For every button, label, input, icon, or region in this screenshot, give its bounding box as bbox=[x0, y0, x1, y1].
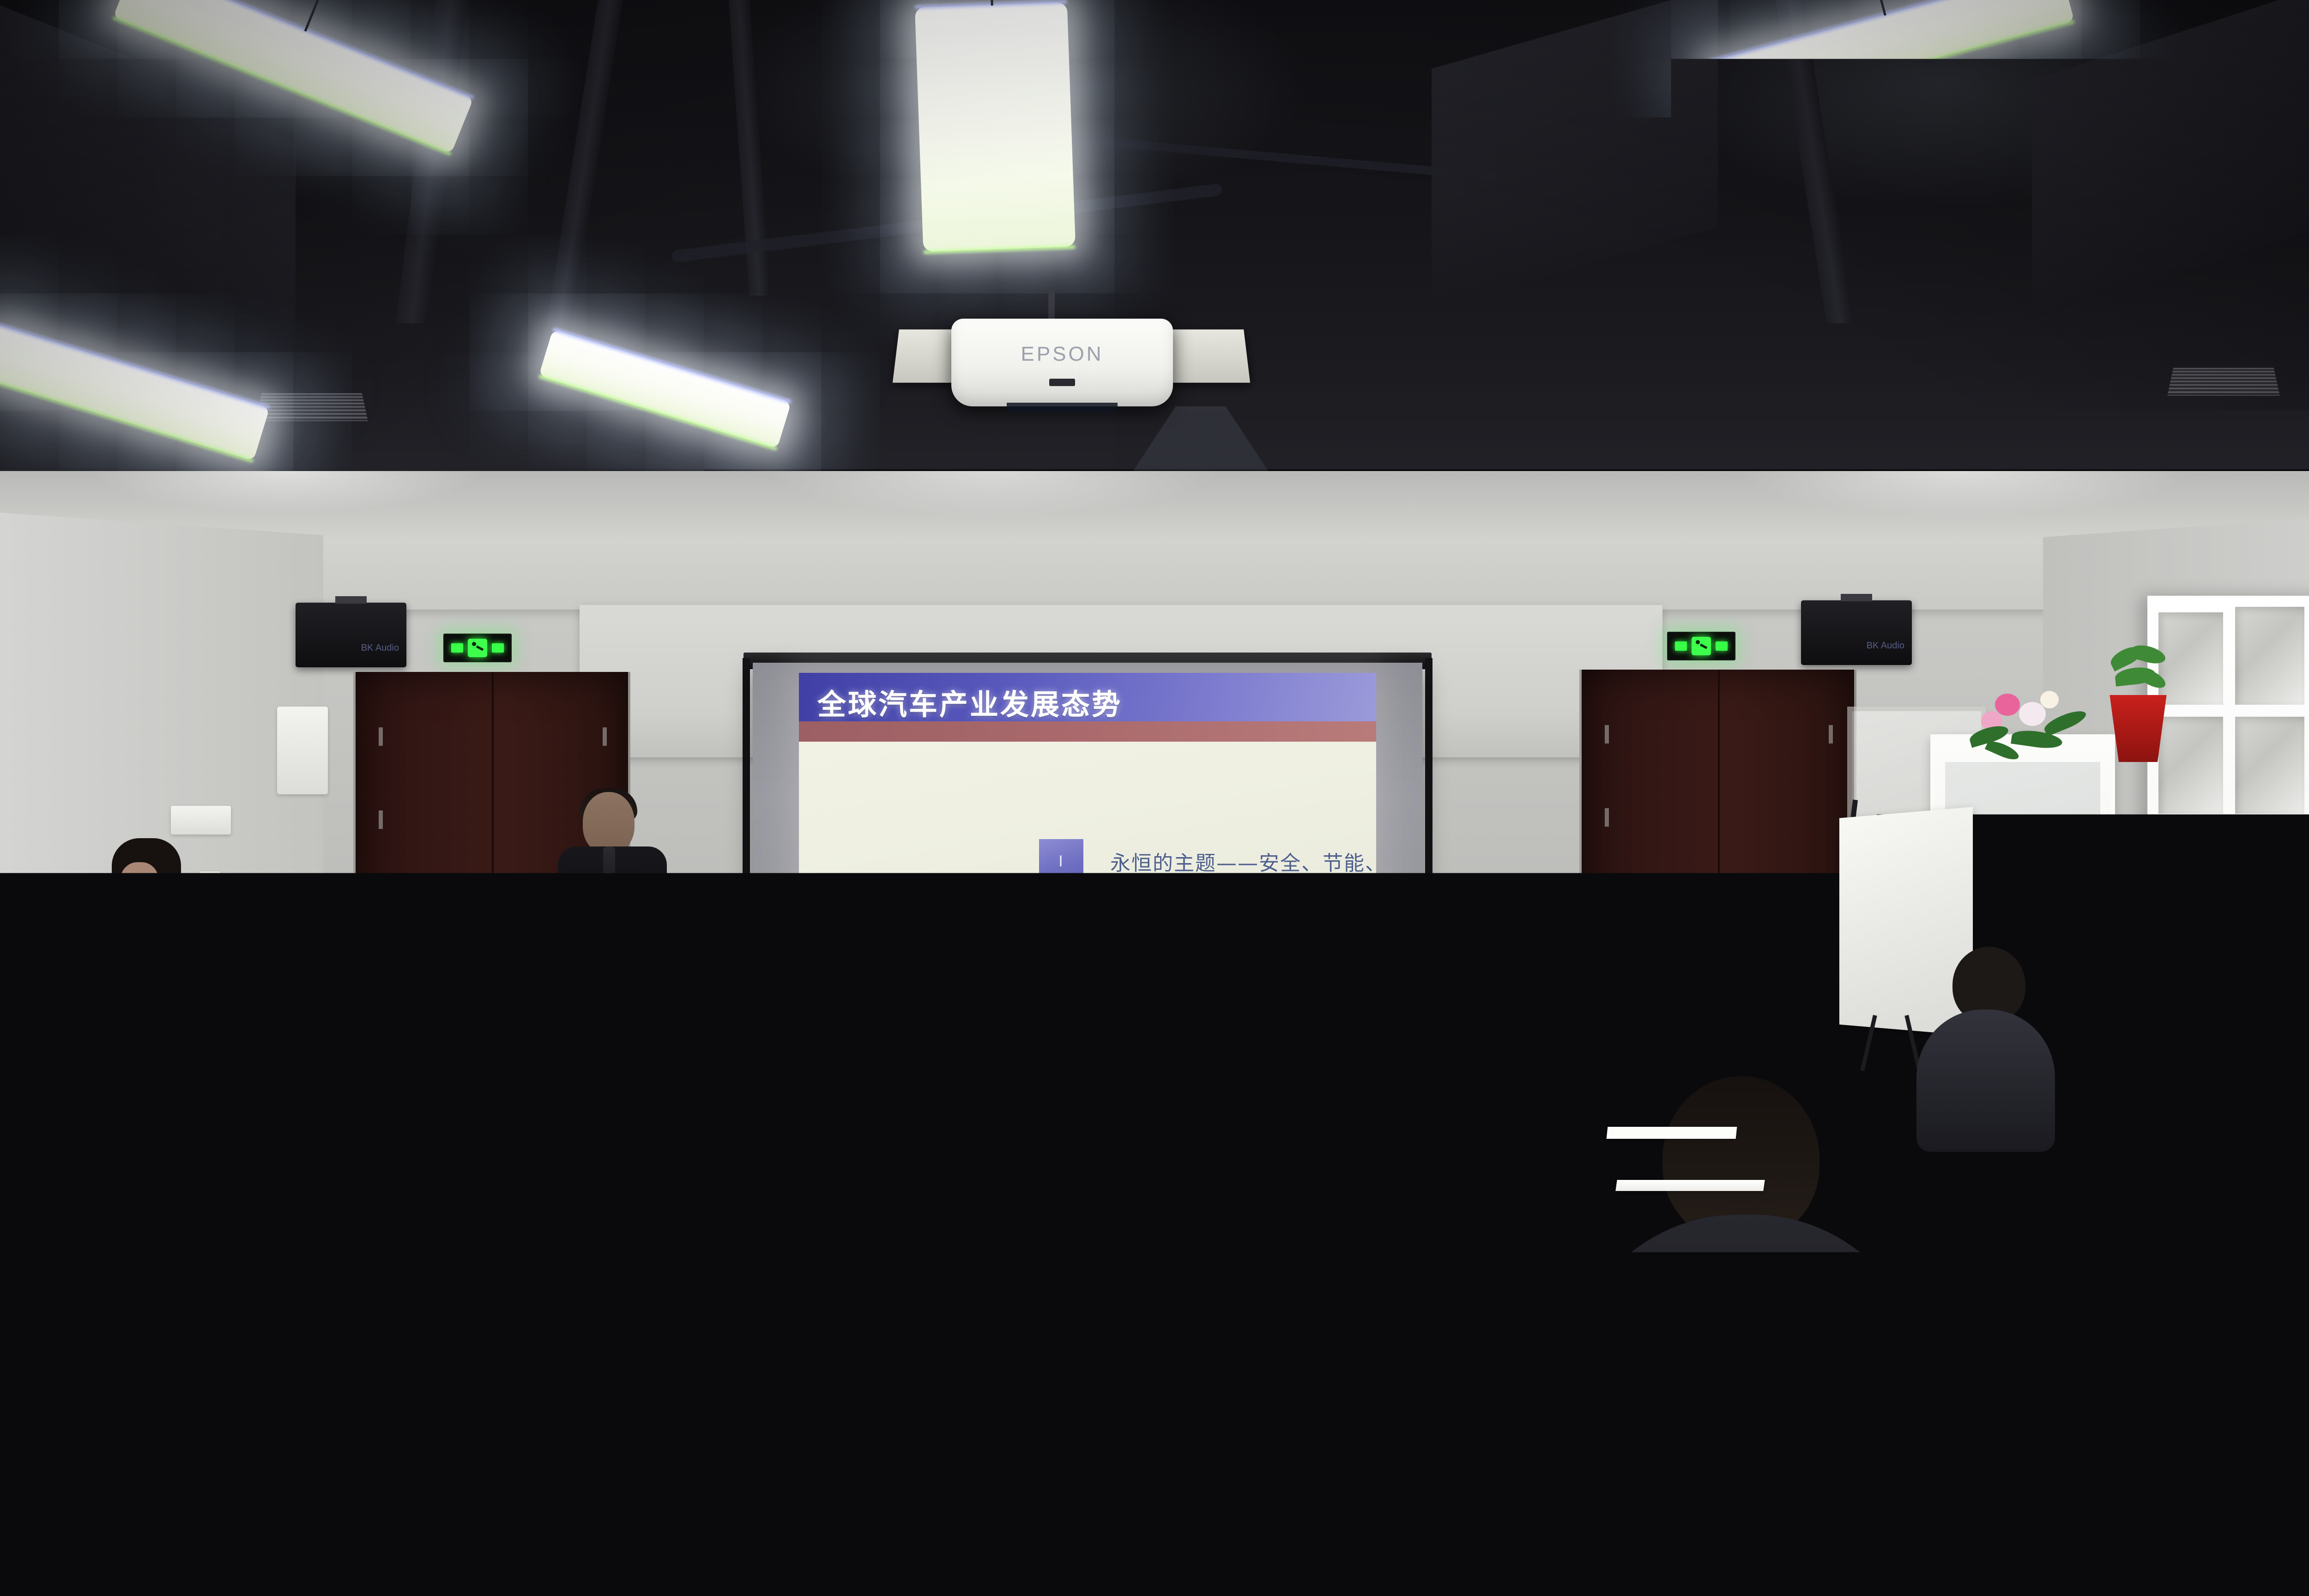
podium-school-name: 景格学校 bbox=[611, 935, 697, 994]
door-split-line bbox=[1718, 670, 1720, 1034]
paper-sheet bbox=[599, 1200, 717, 1210]
bullet-number-box: I bbox=[1039, 839, 1083, 883]
exit-arrow-icon bbox=[1716, 641, 1728, 651]
bullet-number-box: II bbox=[1039, 894, 1083, 938]
thermos-flask bbox=[2175, 1224, 2213, 1339]
thermos-flask bbox=[1210, 1007, 1239, 1099]
exit-arrow-icon bbox=[1675, 641, 1687, 651]
door-handle[interactable] bbox=[1729, 908, 1737, 943]
cabinet-handle[interactable] bbox=[2019, 877, 2023, 919]
presenter-hand bbox=[593, 879, 620, 905]
presenter-head bbox=[583, 792, 635, 854]
instant-noodle-cup bbox=[2129, 1312, 2166, 1354]
screen-edge bbox=[1425, 658, 1433, 1055]
door-plate bbox=[1698, 882, 1727, 899]
wall-junction-box bbox=[171, 806, 231, 834]
slide-footer-line: Automotive bbox=[1310, 978, 1364, 990]
door-handle[interactable] bbox=[484, 910, 491, 945]
wall-speaker-right: BK Audio bbox=[1801, 600, 1912, 665]
paper-sheet bbox=[2104, 1210, 2245, 1224]
audience-member-foreground bbox=[217, 1058, 503, 1596]
thermos-flask bbox=[688, 1247, 725, 1372]
mug-lid bbox=[532, 896, 556, 902]
thermos-flask bbox=[1210, 1118, 1245, 1228]
speaker-bracket bbox=[335, 596, 367, 604]
ceiling-light-fixture bbox=[915, 2, 1076, 252]
slide-bullet-row: II 汽车电动化——能源战略 bbox=[1039, 889, 1362, 943]
open-notebook bbox=[175, 1196, 314, 1207]
person-jacket bbox=[217, 1191, 503, 1596]
bag-text: A bbox=[24, 1427, 30, 1438]
floor-tile-seam bbox=[972, 1118, 1006, 1596]
audience-member bbox=[725, 961, 873, 1159]
ceiling-vent bbox=[255, 393, 368, 421]
lecture-hall-photo: EPSON BK Audio BK Audio bbox=[0, 0, 2309, 1596]
exit-arrow-icon bbox=[451, 643, 463, 653]
cup-graphic bbox=[2131, 1320, 2164, 1341]
slide-footer-line: Engineering bbox=[1310, 989, 1364, 1001]
speaker-bracket bbox=[1841, 594, 1872, 601]
flower-arrangement bbox=[1967, 683, 2097, 771]
open-notebook bbox=[1181, 1182, 1340, 1193]
funnel-label: 产业发展 bbox=[876, 996, 982, 1020]
projector-ir-receiver bbox=[1049, 379, 1075, 386]
slide-bullet-row: I 永恒的主题——安全、节能、环保、舒适 bbox=[1039, 834, 1362, 889]
exit-sign-right bbox=[1667, 632, 1735, 660]
open-notebook bbox=[1625, 1328, 1801, 1339]
instant-noodle-cup bbox=[5, 1307, 42, 1349]
person-jacket bbox=[1561, 1215, 1930, 1596]
slide-accent-band bbox=[799, 721, 1376, 742]
wall-control-panel[interactable] bbox=[277, 707, 328, 794]
wall-speaker-left: BK Audio bbox=[296, 603, 406, 667]
projector: EPSON bbox=[951, 319, 1173, 406]
shelf-cube bbox=[2235, 827, 2304, 925]
door-handle[interactable] bbox=[503, 910, 511, 945]
slide-title: 全球汽车产业发展态势 bbox=[817, 681, 1122, 723]
thermos-flask bbox=[499, 1122, 531, 1228]
running-man-icon bbox=[468, 639, 487, 657]
projector-lens bbox=[1007, 403, 1118, 413]
red-flower-pot bbox=[2106, 695, 2170, 762]
door-hinge bbox=[1605, 808, 1609, 827]
door-handle[interactable] bbox=[1710, 908, 1717, 943]
potted-plant bbox=[2106, 647, 2170, 762]
presenter bbox=[554, 792, 670, 926]
open-notebook bbox=[1615, 1180, 1765, 1191]
light-switch[interactable] bbox=[253, 873, 269, 891]
light-switch[interactable] bbox=[231, 873, 247, 891]
shelf-cube bbox=[2158, 827, 2223, 925]
cabinet-handle[interactable] bbox=[2031, 877, 2035, 919]
projector-brand-label: EPSON bbox=[951, 343, 1173, 366]
slide-funnel-graphic: 产业发展 bbox=[859, 880, 1025, 1024]
exit-arrow-icon bbox=[492, 643, 504, 653]
door-hinge bbox=[379, 810, 383, 829]
slide-footer-line: Training Centre bbox=[1310, 1001, 1364, 1013]
bullet-number-box: IV bbox=[1039, 1003, 1083, 1024]
door-hinge bbox=[1605, 725, 1609, 744]
person-head bbox=[1256, 1372, 1432, 1556]
door-right[interactable] bbox=[1579, 670, 1856, 1034]
door-hinge bbox=[379, 727, 383, 746]
running-man-icon bbox=[1692, 637, 1711, 655]
audience-member-foreground bbox=[1136, 1372, 1552, 1596]
exit-sign-left bbox=[443, 634, 512, 662]
person-jacket bbox=[725, 1024, 873, 1167]
bullet-text: 永恒的主题——安全、节能、环保、舒适 bbox=[1110, 846, 1376, 876]
tote-bag: A bbox=[18, 1353, 152, 1445]
cup-graphic bbox=[6, 1315, 40, 1336]
door-plate bbox=[472, 884, 501, 901]
door-hinge bbox=[603, 727, 607, 746]
shelf-cube bbox=[2235, 607, 2304, 705]
shelf-cube bbox=[2235, 717, 2304, 814]
paper-sheet bbox=[2114, 1413, 2264, 1429]
door-hinge bbox=[1829, 725, 1833, 744]
bullet-number-box: III bbox=[1039, 948, 1083, 992]
slide-footer: Automotive Engineering Training Centre bbox=[1310, 978, 1364, 1013]
soffit-light-glow bbox=[0, 471, 2309, 526]
speaker-brand-label: BK Audio bbox=[361, 643, 399, 653]
chair[interactable] bbox=[817, 1275, 914, 1492]
bullet-text: 汽车电动化——能源战略 bbox=[1110, 901, 1344, 931]
person-coat bbox=[1995, 1213, 2291, 1596]
speaker-brand-label: BK Audio bbox=[1867, 641, 1904, 651]
paper-sheet bbox=[1607, 1127, 1737, 1139]
